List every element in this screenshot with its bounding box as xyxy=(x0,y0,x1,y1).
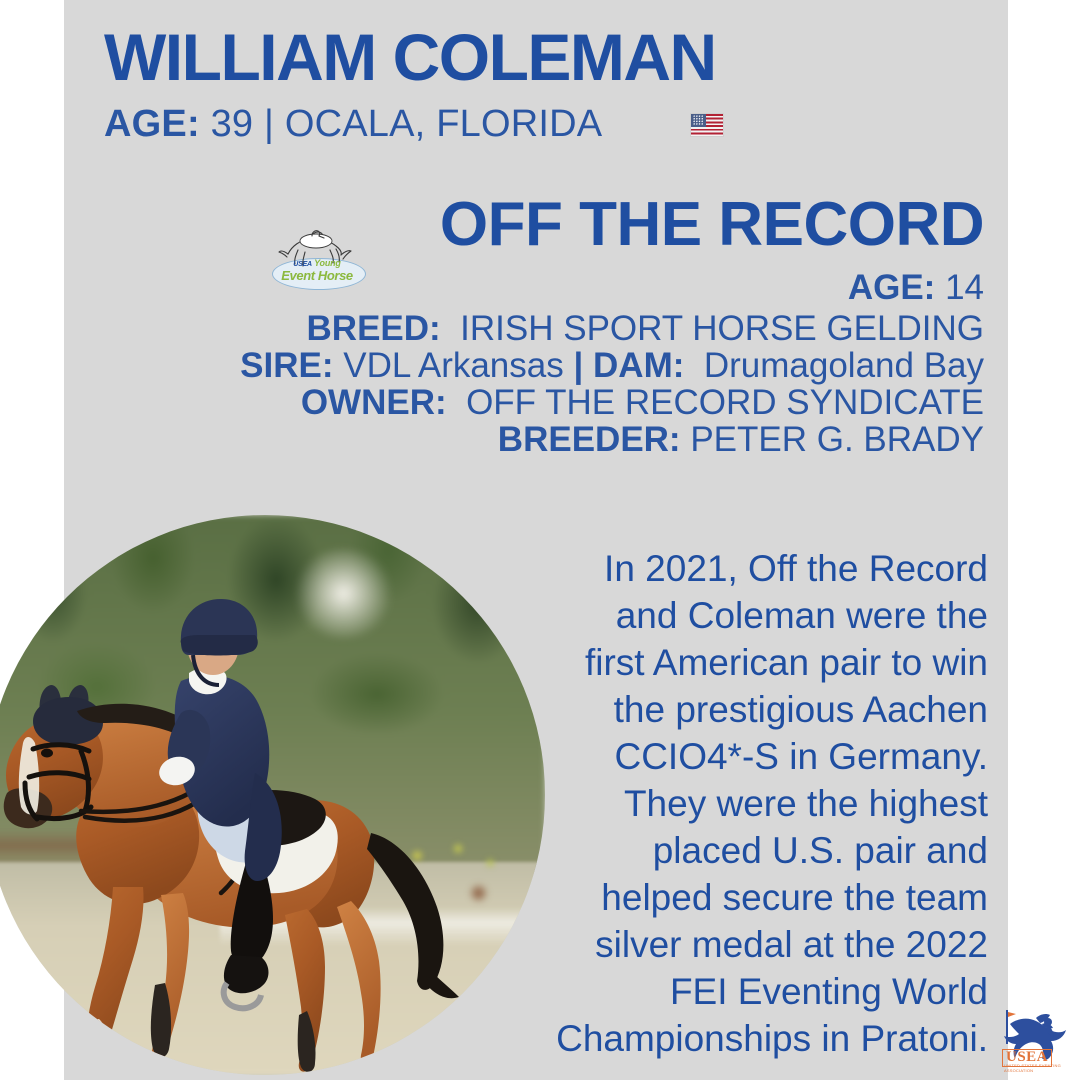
rider-age-location: AGE: 39 | OCALA, FLORIDA xyxy=(104,104,602,146)
yeh-usea-text: USEA xyxy=(293,261,312,268)
horse-name-row: USEA Young Event Horse OFF THE RECORD xyxy=(120,188,984,262)
rider-location: OCALA, FLORIDA xyxy=(285,103,602,145)
horse-owner-value: OFF THE RECORD SYNDICATE xyxy=(466,383,984,422)
rider-separator: | xyxy=(264,103,274,145)
horse-sire-label: SIRE: xyxy=(240,346,333,385)
rider-header: WILLIAM COLEMAN AGE: 39 | OCALA, FLORIDA xyxy=(104,24,984,146)
photo-inner xyxy=(0,515,545,1075)
yeh-line2: Event Horse xyxy=(266,269,368,282)
horse-detail-lines: AGE: 14 BREED: IRISH SPORT HORSE GELDING… xyxy=(120,266,984,458)
rider-age-value: 39 xyxy=(211,103,254,145)
usea-subtext: UNITED STATES EVENTING ASSOCIATION xyxy=(1004,1063,1072,1073)
yeh-wordmark: USEA Young Event Horse xyxy=(266,259,368,282)
horse-breeder-line: BREEDER: PETER G. BRADY xyxy=(120,421,984,458)
horse-age-value: 14 xyxy=(945,268,984,307)
horse-owner-label: OWNER: xyxy=(301,383,447,422)
horse-owner-line: OWNER: OFF THE RECORD SYNDICATE xyxy=(120,384,984,421)
rider-photo xyxy=(0,515,545,1075)
horse-info-block: USEA Young Event Horse OFF THE RECORD AG… xyxy=(120,188,984,458)
horse-breeder-label: BREEDER: xyxy=(498,420,681,459)
horse-pipe: | xyxy=(573,346,583,385)
flag-canton xyxy=(691,114,706,127)
horse-age-line: AGE: 14 xyxy=(120,266,984,310)
us-flag-icon xyxy=(690,113,724,137)
horse-breed-value: IRISH SPORT HORSE GELDING xyxy=(460,309,984,348)
rider-age-label: AGE: xyxy=(104,103,200,145)
horse-dam-label: DAM: xyxy=(593,346,684,385)
usea-young-event-horse-logo: USEA Young Event Horse xyxy=(266,228,368,290)
horse-dam-value: Drumagoland Bay xyxy=(704,346,984,385)
yeh-young-text: Young xyxy=(314,258,341,268)
horse-breed-line: BREED: IRISH SPORT HORSE GELDING xyxy=(120,310,984,347)
rider-subheader: AGE: 39 | OCALA, FLORIDA xyxy=(104,104,984,146)
profile-card: WILLIAM COLEMAN AGE: 39 | OCALA, FLORIDA xyxy=(0,0,1080,1080)
horse-name: OFF THE RECORD xyxy=(120,188,984,262)
horse-breed-label: BREED: xyxy=(307,309,441,348)
rider-name: WILLIAM COLEMAN xyxy=(104,24,984,90)
horse-and-rider-illustration xyxy=(0,515,545,1075)
yeh-line1: USEA Young xyxy=(266,259,368,268)
horse-age-label: AGE: xyxy=(848,268,936,307)
horse-sire-dam-line: SIRE: VDL Arkansas | DAM: Drumagoland Ba… xyxy=(120,347,984,384)
usea-logo: USEA UNITED STATES EVENTING ASSOCIATION xyxy=(996,1000,1072,1074)
horse-breeder-value: PETER G. BRADY xyxy=(690,420,984,459)
description-text: In 2021, Off the Record and Coleman were… xyxy=(556,545,988,1062)
horse-sire-value: VDL Arkansas xyxy=(343,346,563,385)
